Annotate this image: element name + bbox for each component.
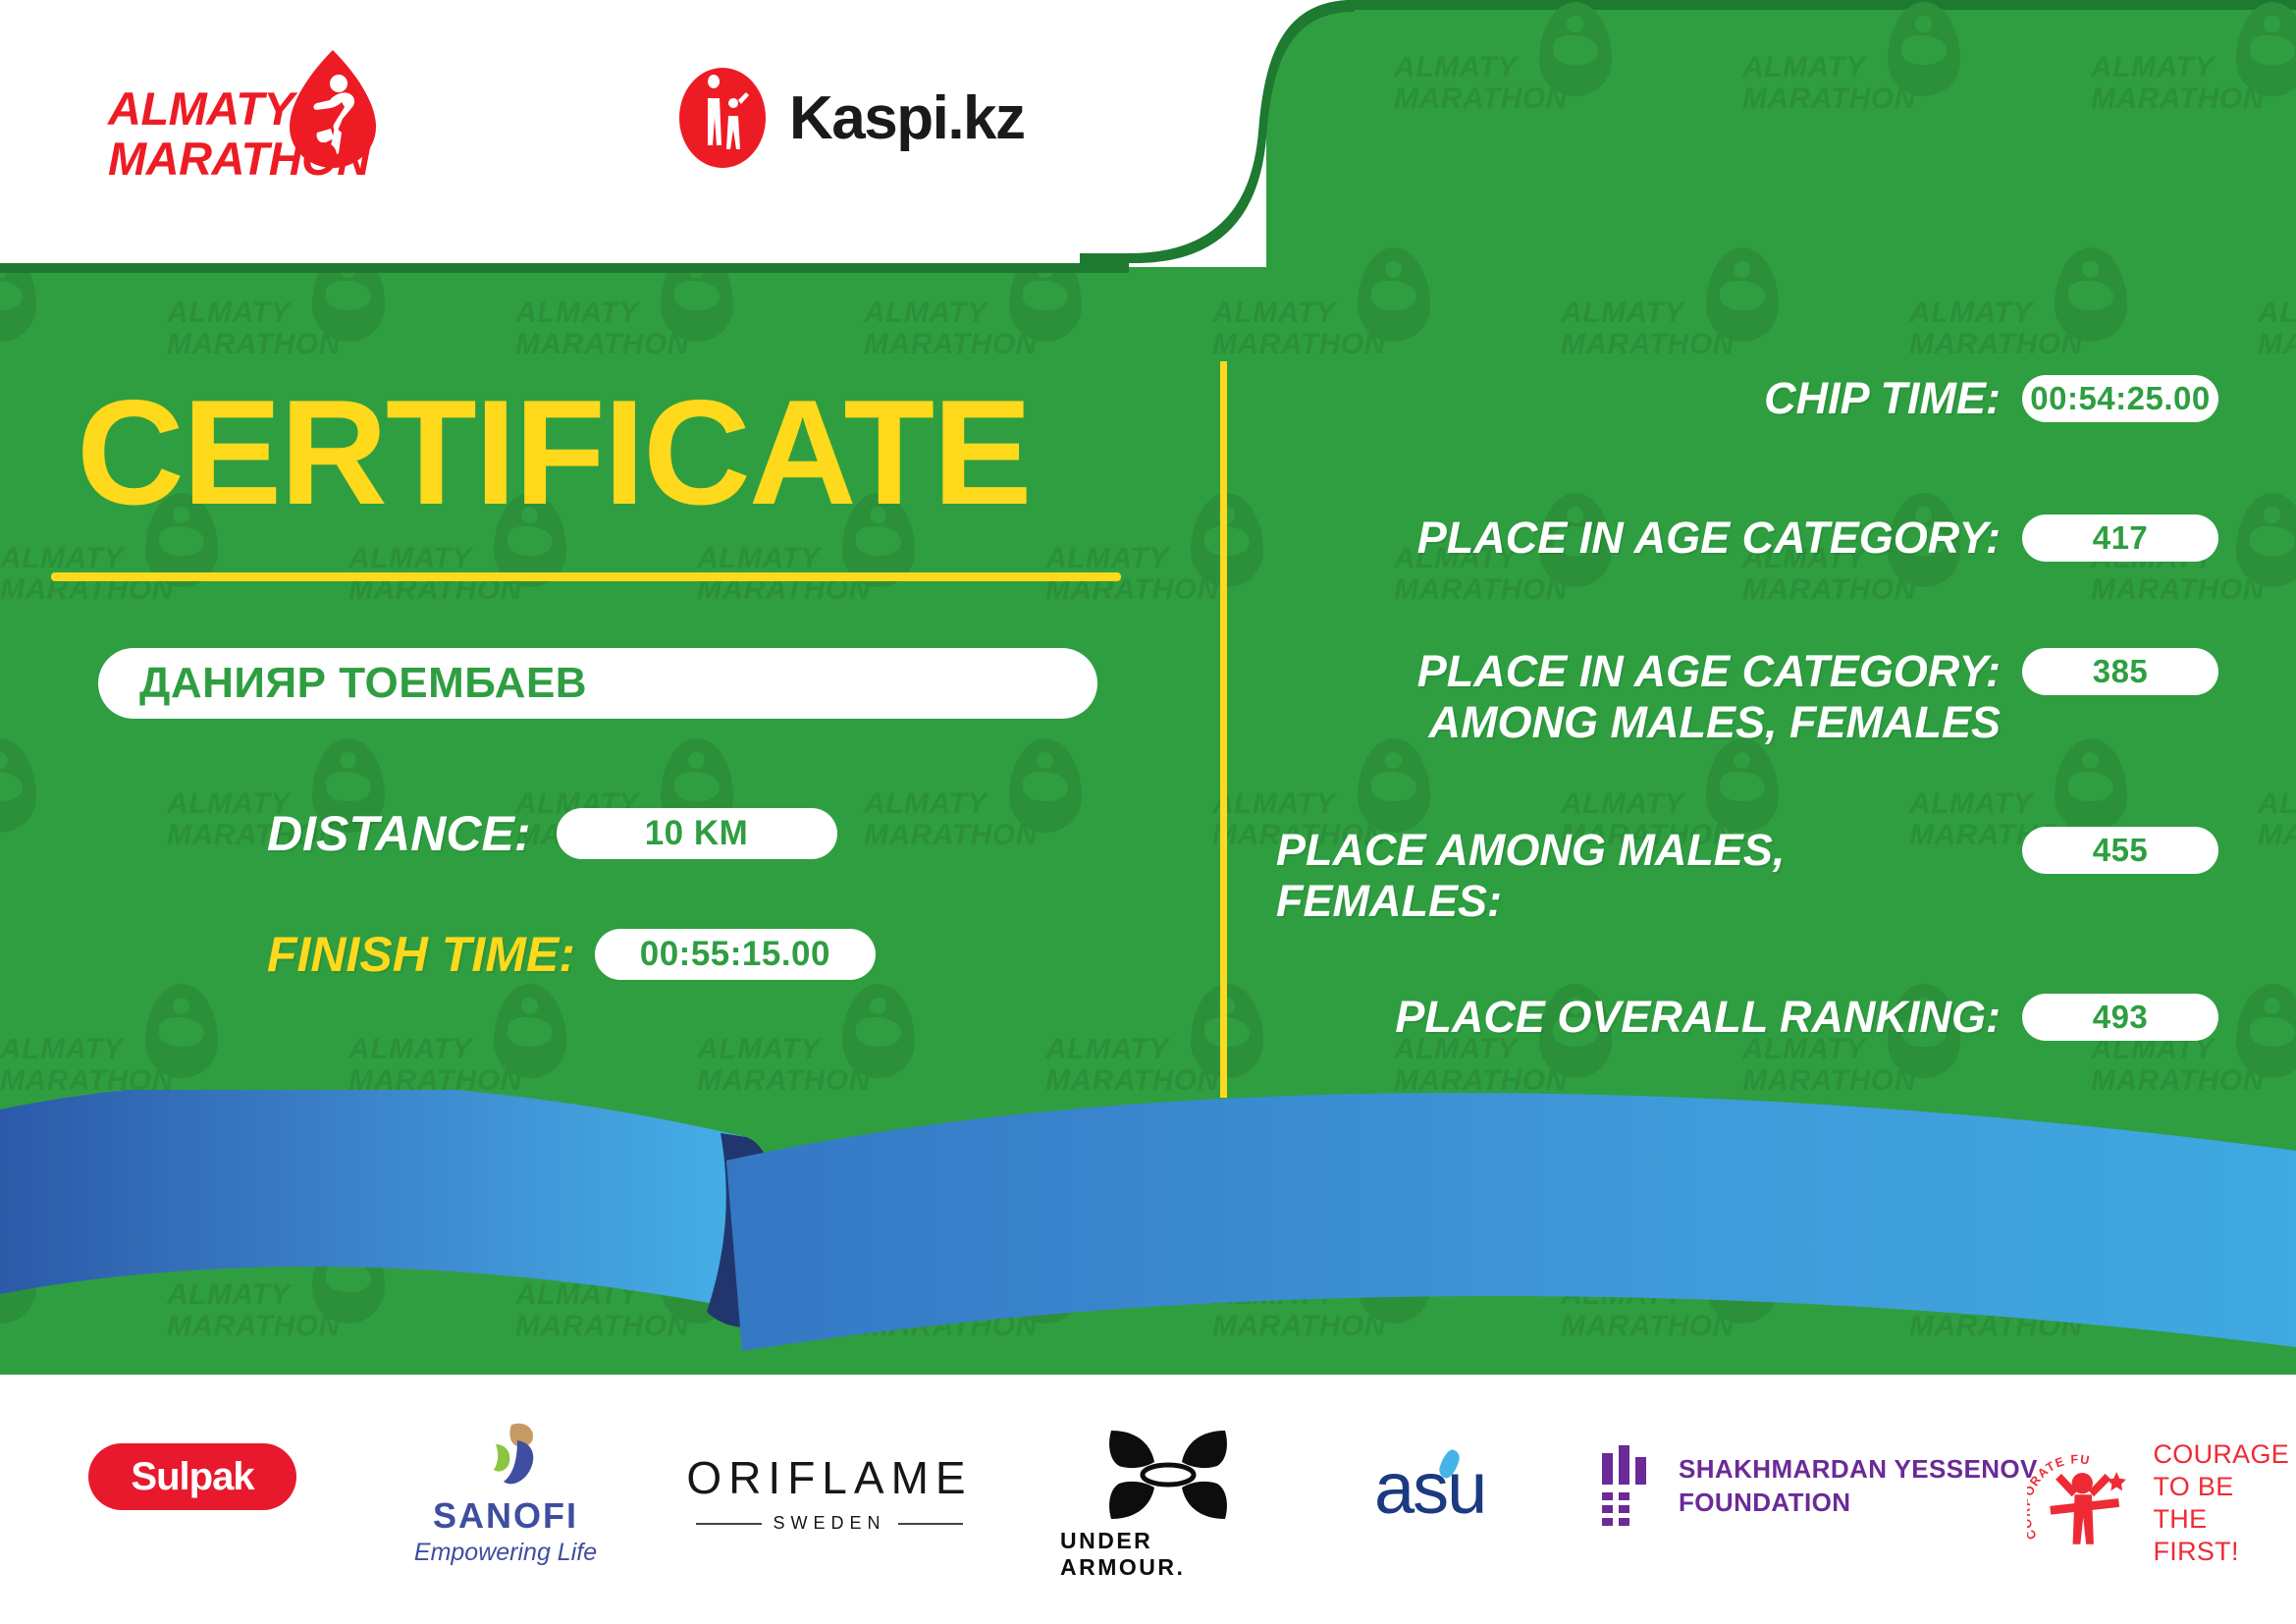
finish-time-value: 00:55:15.00 xyxy=(640,935,830,974)
stat-row-place-overall-ranking: PLACE OVERALL RANKING: 493 xyxy=(1276,992,2218,1043)
finish-time-label: FINISH TIME: xyxy=(267,926,575,983)
stat-value-pill: 455 xyxy=(2022,827,2218,874)
stat-label: PLACE IN AGE CATEGORY: AMONG MALES, FEMA… xyxy=(1276,646,2022,748)
stat-value: 493 xyxy=(2093,999,2149,1036)
courage-line3: THE FIRST! xyxy=(2153,1503,2296,1568)
sponsor-logo-courage-fund: CORPORATE FUND COURAGE TO BE THE FIRST! xyxy=(2027,1438,2296,1568)
sponsor-logo-sulpak: Sulpak xyxy=(88,1443,296,1510)
kaspi-logo: Kaspi.kz xyxy=(677,59,1090,177)
yessenov-line2: FOUNDATION xyxy=(1679,1486,2038,1519)
distance-value: 10 KM xyxy=(645,814,749,853)
sponsor-logo-oriflame: ORIFLAME SWEDEN xyxy=(687,1451,972,1534)
stat-value-pill: 417 xyxy=(2022,514,2218,562)
courage-line1: COURAGE xyxy=(2153,1438,2296,1471)
blue-ribbon-banner: APRIL 21 st RUN FOR SENSATIONS xyxy=(0,1090,2296,1414)
asu-mark: asu xyxy=(1374,1453,1531,1524)
oriflame-wordmark: ORIFLAME xyxy=(686,1451,972,1504)
page-title: CERTIFICATE xyxy=(77,378,1031,527)
participant-name: ДАНИЯР ТОЕМБАЕВ xyxy=(139,659,587,708)
sponsor-logo-asu: asu xyxy=(1364,1453,1541,1524)
stat-label-line1: PLACE AMONG MALES, xyxy=(1276,825,2001,876)
almaty-marathon-wordmark: ALMATY MARATHON xyxy=(108,83,370,184)
am-line1: ALMATY xyxy=(108,83,370,134)
yessenov-bars-icon xyxy=(1600,1443,1657,1528)
stat-row-place-age-category: PLACE IN AGE CATEGORY: 417 xyxy=(1276,513,2218,564)
sanofi-bird-icon xyxy=(468,1421,543,1491)
title-underline xyxy=(51,572,1121,581)
stat-row-chip-time: CHIP TIME: 00:54:25.00 xyxy=(1276,373,2218,424)
sponsor-logo-sanofi: SANOFI Empowering Life xyxy=(393,1421,618,1567)
oriflame-rule-left xyxy=(696,1523,762,1525)
stat-label: PLACE AMONG MALES, FEMALES: xyxy=(1276,825,2022,927)
almaty-marathon-logo: ALMATY MARATHON xyxy=(108,54,432,191)
courage-child-icon: CORPORATE FUND xyxy=(2027,1449,2139,1557)
under-armour-wordmark: UNDER ARMOUR. xyxy=(1060,1528,1276,1581)
kaspi-people-icon xyxy=(677,67,768,170)
participant-name-field: ДАНИЯР ТОЕМБАЕВ xyxy=(98,648,1097,719)
yessenov-line1: SHAKHMARDAN YESSENOV xyxy=(1679,1452,2038,1486)
sulpak-wordmark: Sulpak xyxy=(131,1455,253,1499)
sanofi-wordmark: SANOFI xyxy=(433,1495,578,1537)
sponsor-logo-yessenov-foundation: SHAKHMARDAN YESSENOV FOUNDATION xyxy=(1600,1443,2038,1528)
yessenov-wordmark: SHAKHMARDAN YESSENOV FOUNDATION xyxy=(1679,1452,2038,1519)
kaspi-wordmark: Kaspi.kz xyxy=(789,83,1025,153)
stat-value: 385 xyxy=(2093,653,2149,690)
sanofi-tagline: Empowering Life xyxy=(414,1539,597,1567)
stat-value-pill: 493 xyxy=(2022,994,2218,1041)
distance-value-pill: 10 KM xyxy=(557,808,837,859)
am-line2: MARATHON xyxy=(108,134,370,184)
stat-label: CHIP TIME: xyxy=(1276,373,2022,424)
stat-label: PLACE OVERALL RANKING: xyxy=(1276,992,2022,1043)
stat-value: 417 xyxy=(2093,519,2149,557)
oriflame-sub: SWEDEN xyxy=(696,1513,963,1534)
distance-row: DISTANCE: 10 KM xyxy=(267,805,837,862)
courage-wordmark: COURAGE TO BE THE FIRST! xyxy=(2153,1438,2296,1568)
ribbon-shape xyxy=(0,1090,2296,1414)
stat-value-pill: 385 xyxy=(2022,648,2218,695)
stat-label: PLACE IN AGE CATEGORY: xyxy=(1276,513,2022,564)
stat-row-place-age-category-among: PLACE IN AGE CATEGORY: AMONG MALES, FEMA… xyxy=(1276,646,2218,748)
header-curve-shape xyxy=(1080,0,1355,285)
stat-value: 00:54:25.00 xyxy=(2030,380,2210,417)
oriflame-country: SWEDEN xyxy=(762,1513,898,1534)
under-armour-icon xyxy=(1101,1429,1235,1521)
vertical-divider xyxy=(1220,361,1227,1098)
oriflame-rule-right xyxy=(898,1523,964,1525)
stat-label-line1: PLACE IN AGE CATEGORY: xyxy=(1276,646,2001,697)
sulpak-pill: Sulpak xyxy=(88,1443,296,1510)
stat-value: 455 xyxy=(2093,832,2149,869)
stat-label-line2: AMONG MALES, FEMALES xyxy=(1276,697,2001,748)
sponsor-logo-under-armour: UNDER ARMOUR. xyxy=(1060,1429,1276,1581)
courage-line2: TO BE xyxy=(2153,1471,2296,1503)
stat-value-pill: 00:54:25.00 xyxy=(2022,375,2218,422)
stat-row-place-among-males-females: PLACE AMONG MALES, FEMALES: 455 xyxy=(1276,825,2218,927)
asu-wordmark: asu xyxy=(1374,1447,1485,1529)
distance-label: DISTANCE: xyxy=(267,805,531,862)
finish-time-value-pill: 00:55:15.00 xyxy=(595,929,876,980)
certificate-page: ALMATYMARATHONALMATYMARATHONALMATYMARATH… xyxy=(0,0,2296,1624)
finish-time-row: FINISH TIME: 00:55:15.00 xyxy=(267,926,876,983)
header-dark-underline xyxy=(0,263,1129,273)
stat-label-line2: FEMALES: xyxy=(1276,876,2001,927)
